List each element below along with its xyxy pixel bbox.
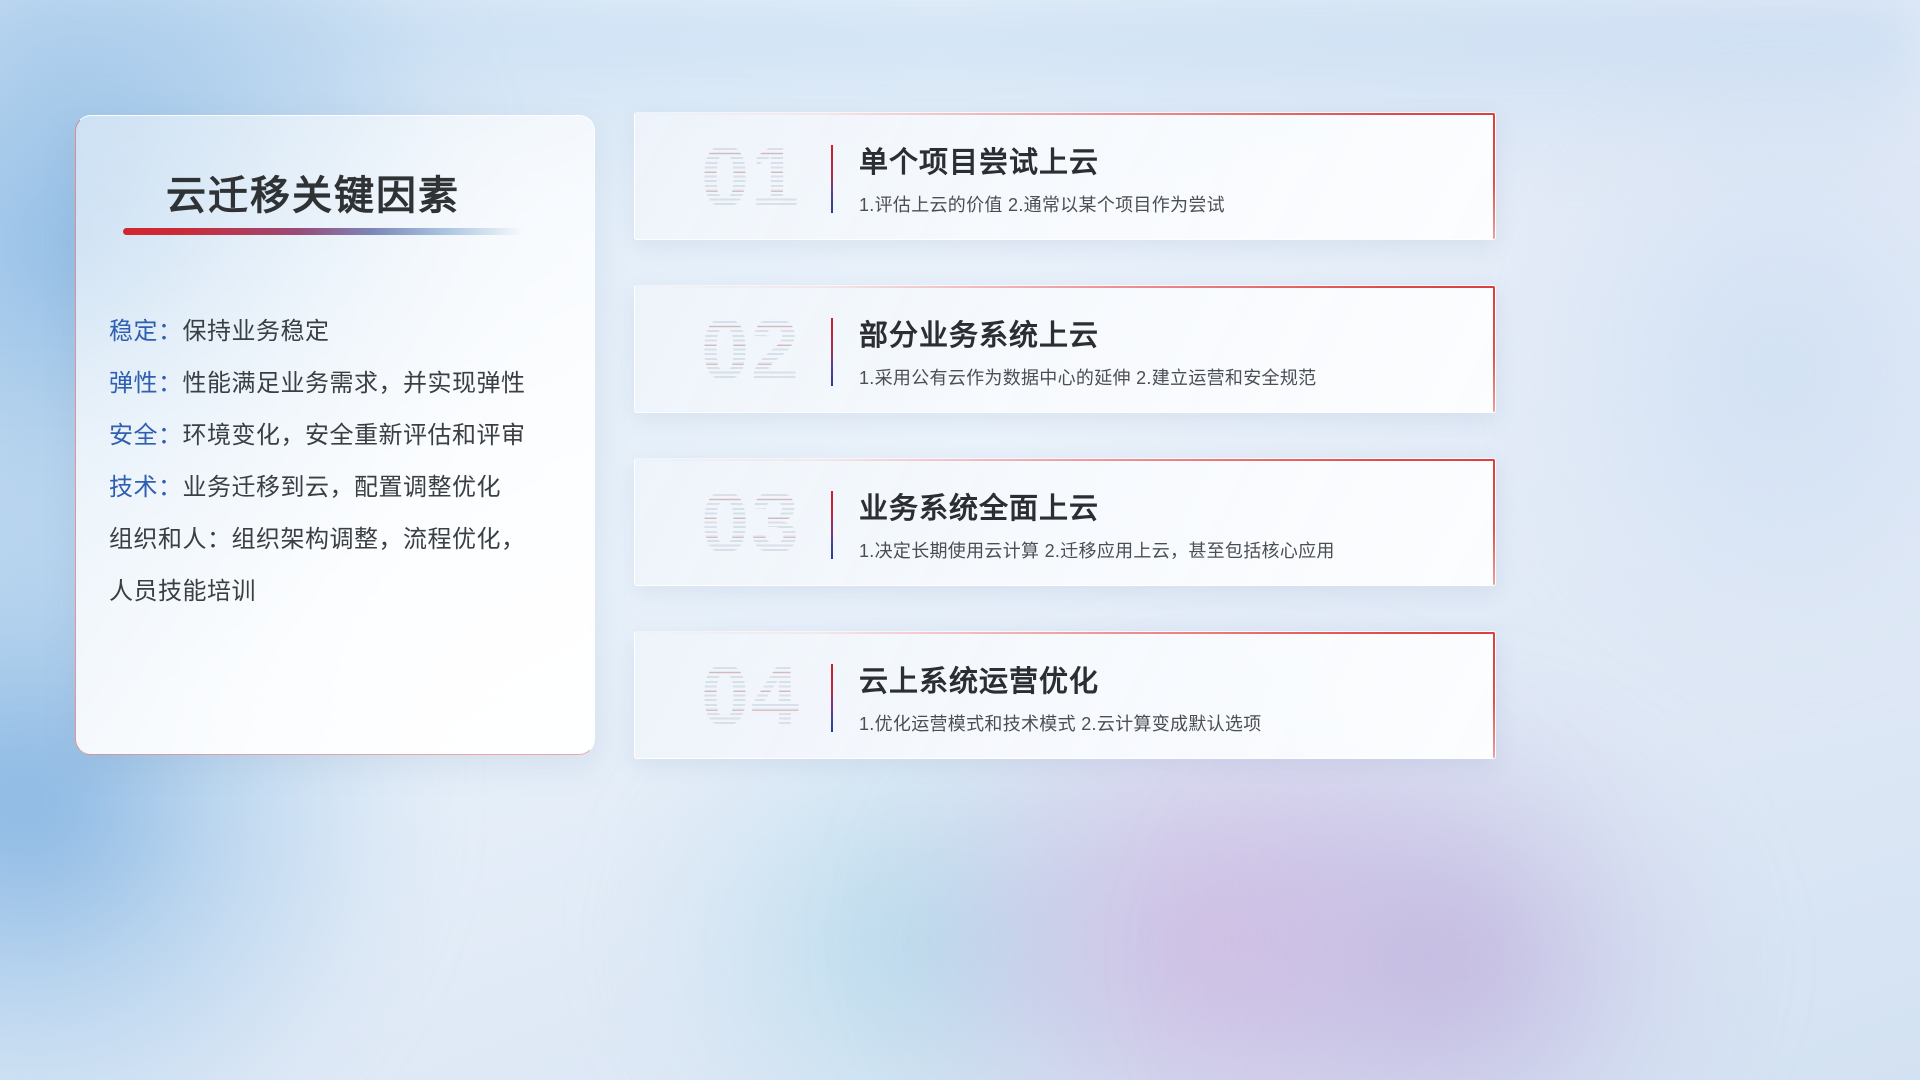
stage-card[interactable]: 0202部分业务系统上云1.采用公有云作为数据中心的延伸 2.建立运营和安全规范 [634, 285, 1496, 413]
stage-title: 单个项目尝试上云 [859, 139, 1099, 181]
factor-description: 人员技能培训 [109, 578, 256, 605]
factor-label: 安全： [109, 422, 183, 449]
stage-number-tint-overlay: 03 [667, 471, 835, 575]
factor-row: 弹性：性能满足业务需求，并实现弹性 [109, 358, 568, 410]
factor-description: 组织架构调整，流程优化， [232, 526, 526, 553]
factor-row: 技术：业务迁移到云，配置调整优化 [109, 462, 568, 514]
stage-divider-bar [831, 491, 833, 559]
stage-description: 1.评估上云的价值 2.通常以某个项目作为尝试 [859, 191, 1225, 217]
factor-description: 保持业务稳定 [183, 318, 330, 345]
stage-title: 业务系统全面上云 [859, 485, 1099, 527]
factor-row: 稳定：保持业务稳定 [109, 306, 568, 358]
title-underline-accent [123, 228, 523, 235]
stage-card[interactable]: 0303业务系统全面上云1.决定长期使用云计算 2.迁移应用上云，甚至包括核心应… [634, 458, 1496, 586]
stage-number-tint-overlay: 02 [667, 298, 835, 402]
stage-title: 部分业务系统上云 [859, 312, 1099, 354]
factor-label: 稳定： [109, 318, 183, 345]
factor-label: 弹性： [109, 370, 183, 397]
factor-list: 稳定：保持业务稳定弹性：性能满足业务需求，并实现弹性安全：环境变化，安全重新评估… [109, 306, 568, 618]
stage-title: 云上系统运营优化 [859, 658, 1099, 700]
stage-divider-bar [831, 145, 833, 213]
factor-label: 技术： [109, 474, 183, 501]
stage-card[interactable]: 0404云上系统运营优化1.优化运营模式和技术模式 2.云计算变成默认选项 [634, 631, 1496, 759]
factor-row: 安全：环境变化，安全重新评估和评审 [109, 410, 568, 462]
key-factors-panel: 云迁移关键因素 稳定：保持业务稳定弹性：性能满足业务需求，并实现弹性安全：环境变… [75, 115, 595, 755]
factor-description: 业务迁移到云，配置调整优化 [183, 474, 502, 501]
page-title: 云迁移关键因素 [166, 163, 460, 221]
background-right-blue-glow [1520, 60, 1920, 680]
stage-card-list: 0101单个项目尝试上云1.评估上云的价值 2.通常以某个项目作为尝试0202部… [634, 112, 1496, 804]
stage-divider-bar [831, 664, 833, 732]
stage-description: 1.优化运营模式和技术模式 2.云计算变成默认选项 [859, 710, 1262, 736]
factor-label: 组织和人： [109, 526, 232, 553]
factor-description: 性能满足业务需求，并实现弹性 [183, 370, 526, 397]
factor-row: 组织和人：组织架构调整，流程优化， [109, 514, 568, 566]
stage-description: 1.决定长期使用云计算 2.迁移应用上云，甚至包括核心应用 [859, 537, 1335, 563]
factor-row: 人员技能培训 [109, 566, 568, 618]
stage-card[interactable]: 0101单个项目尝试上云1.评估上云的价值 2.通常以某个项目作为尝试 [634, 112, 1496, 240]
stage-number-tint-overlay: 01 [667, 125, 835, 229]
stage-divider-bar [831, 318, 833, 386]
stage-description: 1.采用公有云作为数据中心的延伸 2.建立运营和安全规范 [859, 364, 1316, 390]
stage-number-tint-overlay: 04 [667, 644, 835, 748]
factor-description: 环境变化，安全重新评估和评审 [183, 422, 526, 449]
